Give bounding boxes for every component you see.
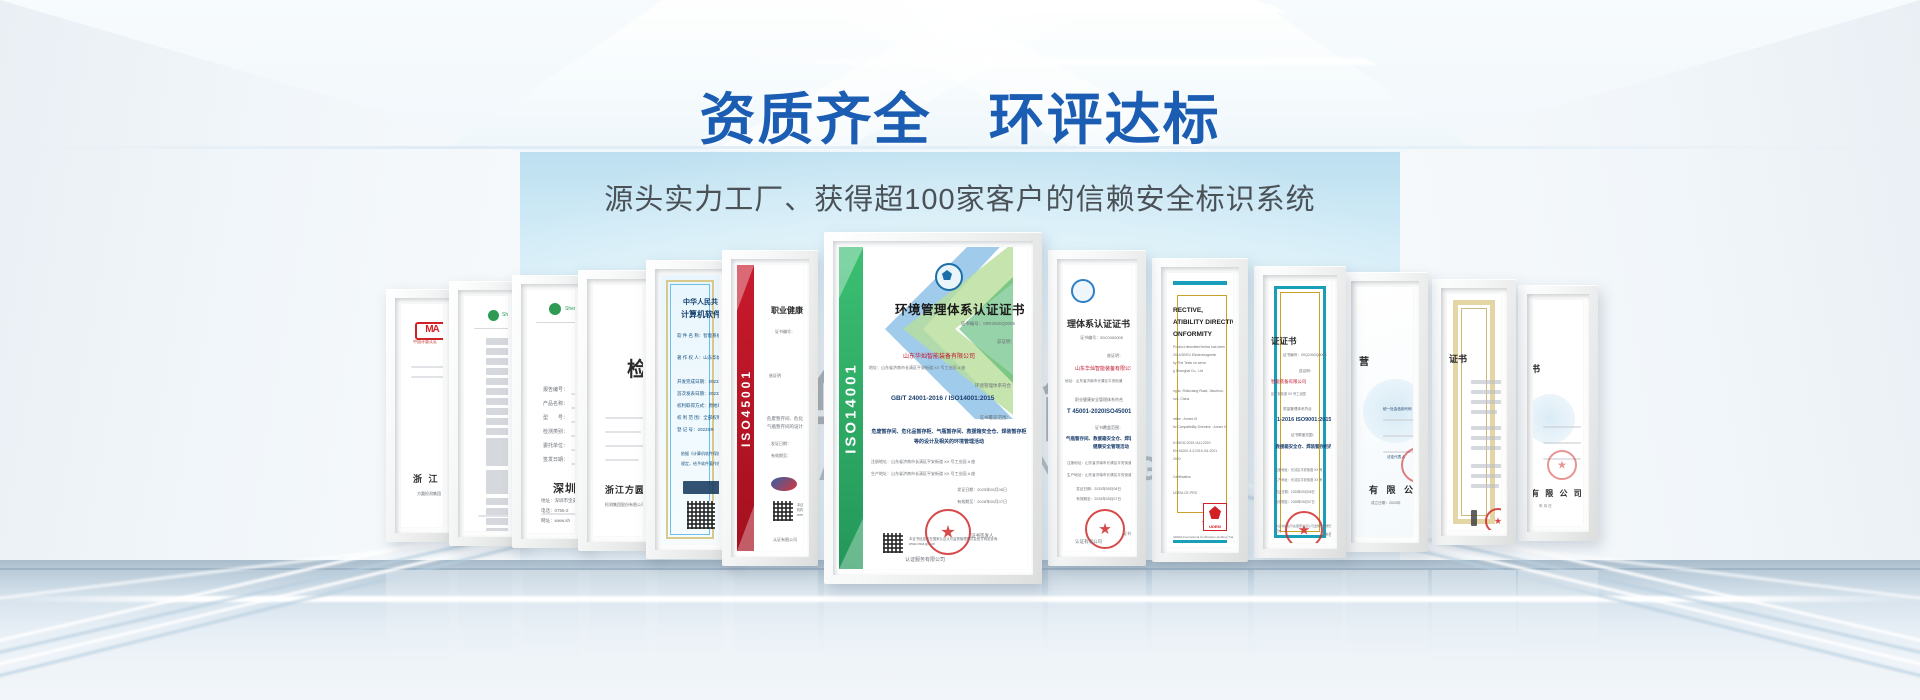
iso14001-scope: 危废暂存间、危化品暂存柜、气瓶暂存间、救援箱安全仓、焊装暂存柜等的设计及相关的环… (871, 427, 1027, 447)
official-red-seal (1547, 450, 1577, 480)
cnas-logo-icon (771, 477, 797, 491)
ce-gold-border (1177, 295, 1227, 513)
copyright-line2: 计算机软件 (681, 309, 719, 320)
iso14001-label: ISO14001 (843, 362, 860, 454)
iso45001-title: 职业健康安全 (771, 305, 803, 316)
qr-code-icon (883, 533, 903, 553)
official-red-seal (925, 509, 971, 555)
certificate-frame-ohs-management[interactable]: 理体系认证证书 证书编号：00C0000005 兹证明： 山东华灿智能装备有限公… (1048, 250, 1146, 566)
lab-logo-icon (549, 303, 561, 315)
inspection-title: 检 (627, 353, 643, 382)
cma-footer-text: 浙 江 (413, 472, 440, 485)
license-company: 有 限 公 司 (1369, 483, 1413, 496)
patent-title: 书 (1533, 362, 1540, 375)
certificate-frame-software-copyright[interactable]: 中华人民共 计算机软件 软 件 名 称：智能系统 著 作 权 人：山东华灿 开发… (646, 260, 734, 559)
barcode-icon (683, 481, 719, 494)
license-title: 营 (1359, 353, 1369, 368)
copyright-blue-border (670, 284, 710, 535)
shenzhen-footer: 深圳 (553, 480, 575, 496)
qr-code-icon (687, 501, 715, 529)
patent-emblem-watermark (1533, 394, 1575, 444)
certificate-frame-ce-emc[interactable]: RECTIVE, ATIBILITY DIRECTIVE ONFORMITY P… (1152, 258, 1248, 562)
banner-stage: 资质齐全 环评达标 源头实力工厂、获得超100家客户的信赖安全标识系统 MA 中… (0, 0, 1920, 700)
honor-title: 证书 (1449, 352, 1467, 365)
iso45001-label: ISO45001 (739, 369, 753, 447)
ce-top-rule (1173, 281, 1227, 285)
lab-logo-icon (488, 310, 499, 321)
certificate-frame-honor[interactable]: 证书 (1432, 279, 1516, 545)
iso45001-side-strip: ISO45001 (737, 265, 754, 551)
iso14001-side-strip: ISO14001 (839, 247, 863, 569)
patent-company: 有 限 公 司 (1533, 488, 1583, 499)
quality-gold-border (1280, 292, 1320, 532)
iso14001-title: 环境管理体系认证证书 (895, 299, 1025, 318)
certifier-emblem-icon (1071, 279, 1095, 303)
cma-badge-icon: MA (415, 322, 443, 340)
certificate-frame-iso9001-quality[interactable]: 证证书 证书编号：00Q2400Q0005 兹证明： 智能装备有限公司 区平安街… (1254, 266, 1346, 558)
iso45001-scope: 危废暂存间、危化品暂存柜、气瓶暂存间的设计及相关活动 (767, 415, 803, 431)
certificate-wall-reflection (0, 570, 1920, 688)
certificate-frame-iso14001-env[interactable]: ISO14001 环境管理体系认证证书 证书编号：00R2500Q0005 兹证… (824, 232, 1042, 584)
inspection-footer: 浙江方圆 (605, 483, 643, 496)
certificate-frame-business-license[interactable]: 营 统一社会信用代码 法定代表人 有 限 公 司 成立日期：2020年 (1342, 272, 1428, 552)
iso14001-standard: GB/T 24001-2016 / ISO14001:2015 (891, 395, 994, 402)
ohs-title: 理体系认证证书 (1067, 317, 1130, 330)
official-red-seal (1485, 508, 1501, 530)
udem-logo-icon: UDEM (1203, 503, 1227, 531)
copyright-line1: 中华人民共 (683, 297, 718, 307)
certificate-frame-patent[interactable]: 书 有 限 公 司 年 月 日 (1518, 285, 1598, 541)
iso14001-company: 山东华灿智能装备有限公司 (903, 351, 975, 360)
qr-code-icon (773, 501, 793, 521)
certificate-frame-iso45001[interactable]: ISO45001 职业健康安全 证书编号： 兹证明 危废暂存间、危化品暂存柜、气… (722, 250, 818, 566)
ce-bottom-rule (1173, 540, 1227, 543)
certificate-frame-cma-test-report[interactable]: MA 中国计量认证 浙 江 方圆检测集团 (386, 289, 458, 542)
ohs-standard: T 45001-2020ISO45001:2018 (1067, 409, 1131, 415)
